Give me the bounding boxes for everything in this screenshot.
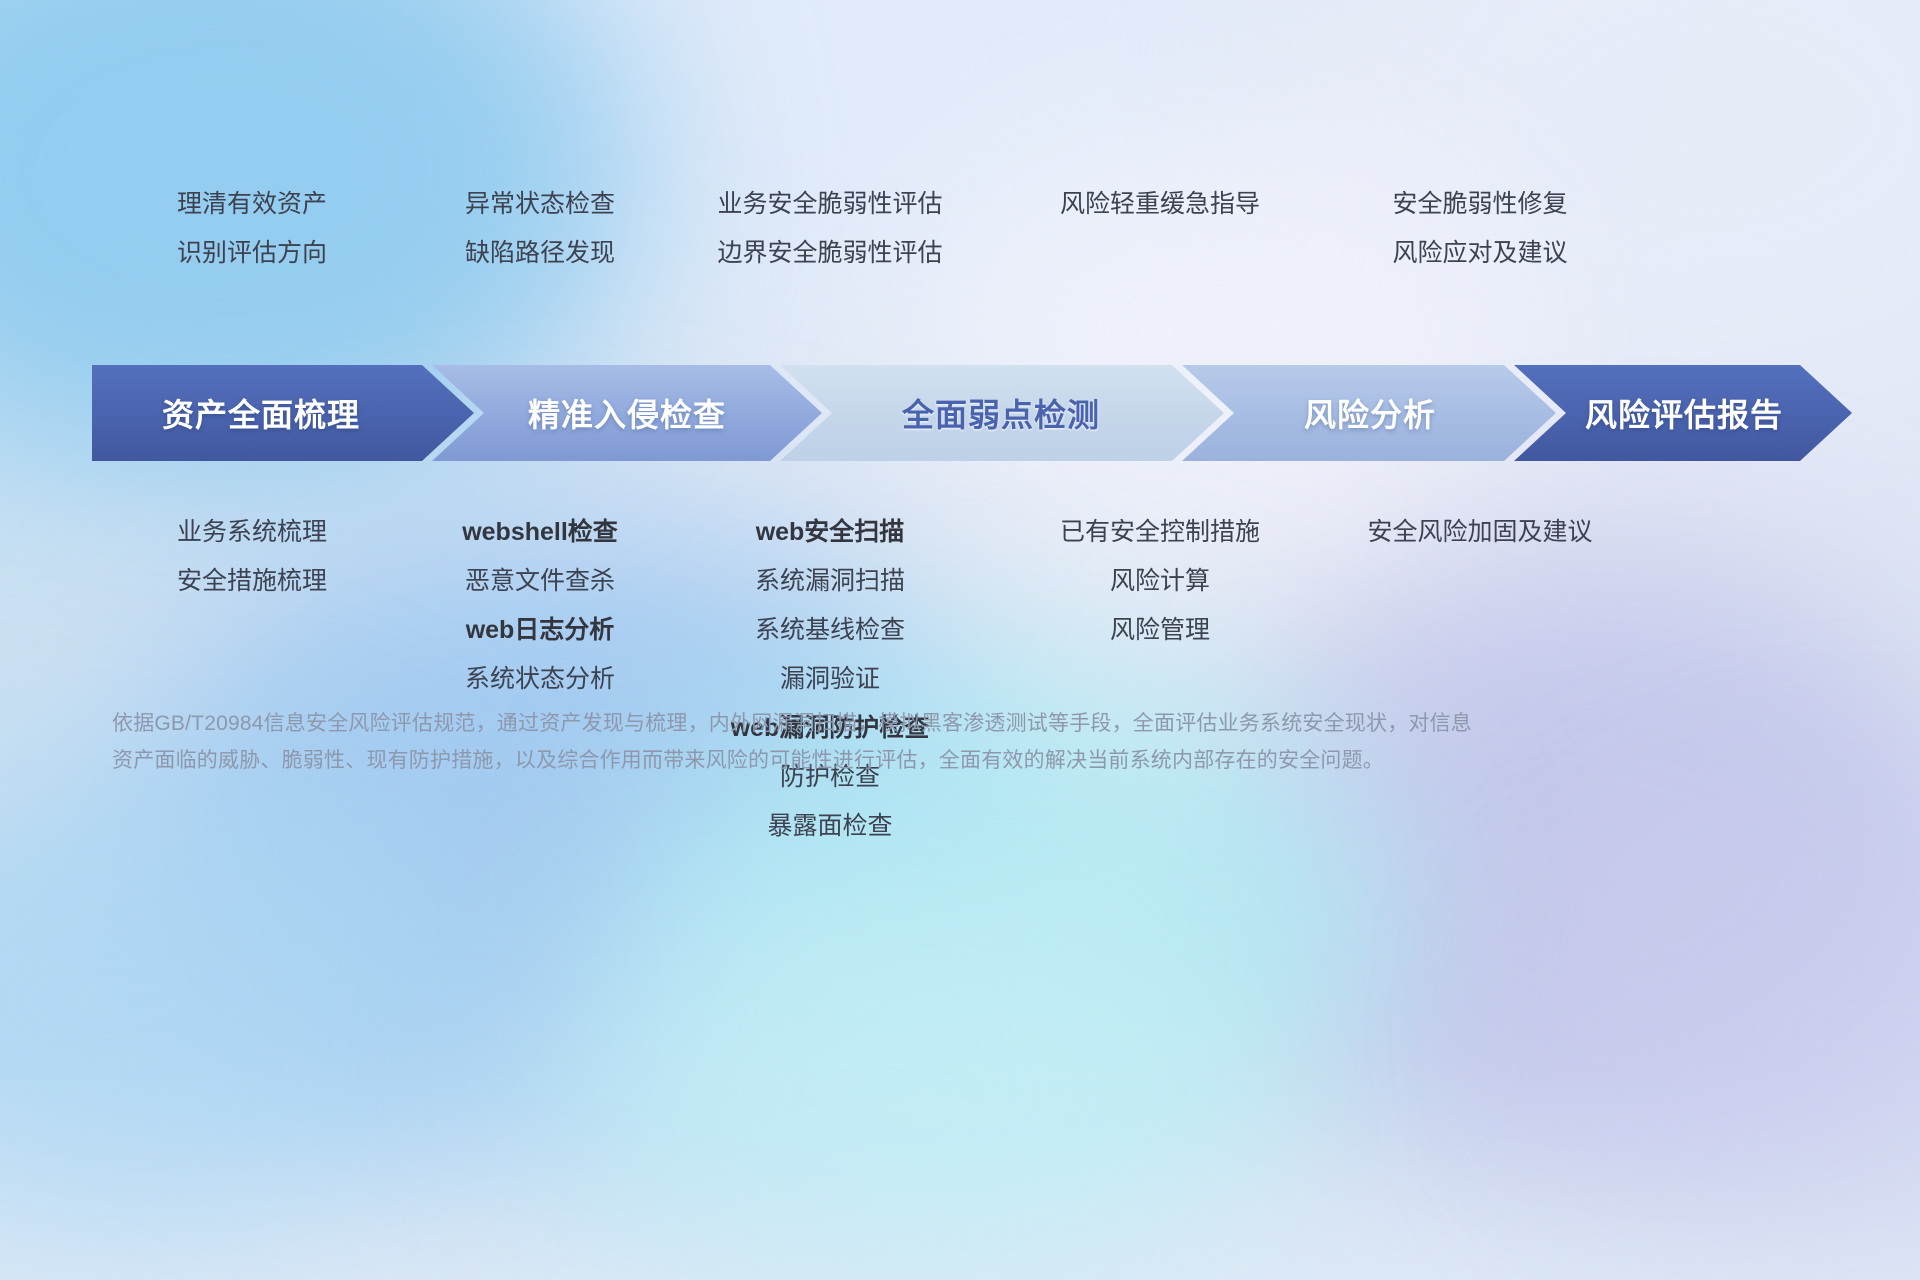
top-item: 安全脆弱性修复 — [1300, 180, 1660, 229]
bottom-item: 暴露面检查 — [640, 802, 1020, 851]
bottom-item: 安全措施梳理 — [92, 557, 412, 606]
stage-top-labels-5: 安全脆弱性修复 风险应对及建议 — [1300, 180, 1660, 340]
process-flow-banner: 资产全面梳理 精准入侵检查 全面弱点检测 风险分析 风险评估报告 — [92, 365, 1852, 461]
stage-bottom-items-3: web安全扫描 系统漏洞扫描 系统基线检查 漏洞验证 web漏洞防护检查 防护检… — [640, 508, 1020, 851]
bottom-item: 风险管理 — [1000, 606, 1320, 655]
stage-bottom-items-1: 业务系统梳理 安全措施梳理 — [92, 508, 412, 606]
footer-line-1: 依据GB/T20984信息安全风险评估规范，通过资产发现与梳理，内外网漏洞扫描，… — [112, 705, 1672, 742]
bottom-item: 系统基线检查 — [640, 606, 1020, 655]
stage-title: 风险分析 — [1182, 390, 1556, 436]
stage-chevron-3[interactable]: 全面弱点检测 — [780, 365, 1224, 461]
stage-chevron-2[interactable]: 精准入侵检查 — [432, 365, 822, 461]
stage-top-labels-3: 业务安全脆弱性评估 边界安全脆弱性评估 — [640, 180, 1020, 340]
stage-chevron-5[interactable]: 风险评估报告 — [1514, 365, 1852, 461]
stage-chevron-1[interactable]: 资产全面梳理 — [92, 365, 474, 461]
bottom-item: 安全风险加固及建议 — [1300, 508, 1660, 557]
stage-bottom-items-4: 已有安全控制措施 风险计算 风险管理 — [1000, 508, 1320, 655]
stage-top-labels-1: 理清有效资产 识别评估方向 — [92, 180, 412, 340]
top-item: 边界安全脆弱性评估 — [640, 229, 1020, 278]
bottom-item: 已有安全控制措施 — [1000, 508, 1320, 557]
stage-title: 风险评估报告 — [1514, 390, 1852, 436]
stage-chevron-4[interactable]: 风险分析 — [1182, 365, 1556, 461]
top-item: 风险轻重缓急指导 — [1000, 180, 1320, 229]
stage-title: 资产全面梳理 — [92, 390, 474, 436]
stage-top-labels-4: 风险轻重缓急指导 — [1000, 180, 1320, 340]
stage-bottom-items-5: 安全风险加固及建议 — [1300, 508, 1660, 557]
top-item: 识别评估方向 — [92, 229, 412, 278]
bottom-item: web安全扫描 — [640, 508, 1020, 557]
bottom-item: 风险计算 — [1000, 557, 1320, 606]
top-item: 风险应对及建议 — [1300, 229, 1660, 278]
footer-line-2: 资产面临的威胁、脆弱性、现有防护措施，以及综合作用而带来风险的可能性进行评估，全… — [112, 742, 1672, 779]
stage-title: 精准入侵检查 — [432, 390, 822, 436]
footer-description: 依据GB/T20984信息安全风险评估规范，通过资产发现与梳理，内外网漏洞扫描，… — [112, 705, 1672, 779]
stage-title: 全面弱点检测 — [780, 390, 1224, 436]
bottom-item: 业务系统梳理 — [92, 508, 412, 557]
bottom-item: 漏洞验证 — [640, 655, 1020, 704]
top-item: 业务安全脆弱性评估 — [640, 180, 1020, 229]
bottom-item: 系统漏洞扫描 — [640, 557, 1020, 606]
top-item: 理清有效资产 — [92, 180, 412, 229]
